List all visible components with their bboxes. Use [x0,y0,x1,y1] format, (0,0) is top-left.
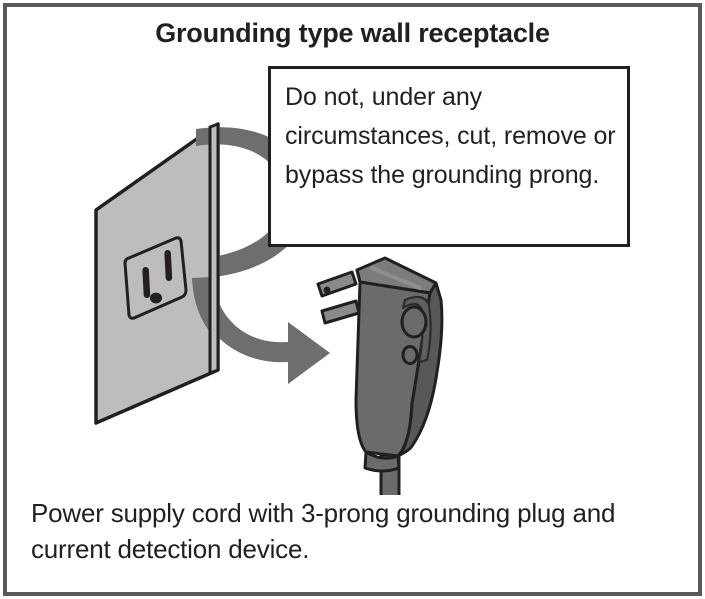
wall-plate-front-edge-overlay [210,124,218,373]
warning-callout-text: Do not, under any circumstances, cut, re… [285,78,625,195]
figure-caption: Power supply cord with 3-prong grounding… [31,495,681,567]
warning-callout-box: Do not, under any circumstances, cut, re… [268,66,630,247]
plug-prong-lower [322,301,359,323]
grounding-plug [318,258,442,471]
wall-receptacle-plate [96,124,218,423]
plug-indicator-light [403,347,417,364]
plug-prong-upper [318,272,356,296]
figure-root: Grounding type wall receptacle [0,0,705,599]
outlet-ground-hole [150,293,162,304]
plug-test-button[interactable] [402,307,426,337]
